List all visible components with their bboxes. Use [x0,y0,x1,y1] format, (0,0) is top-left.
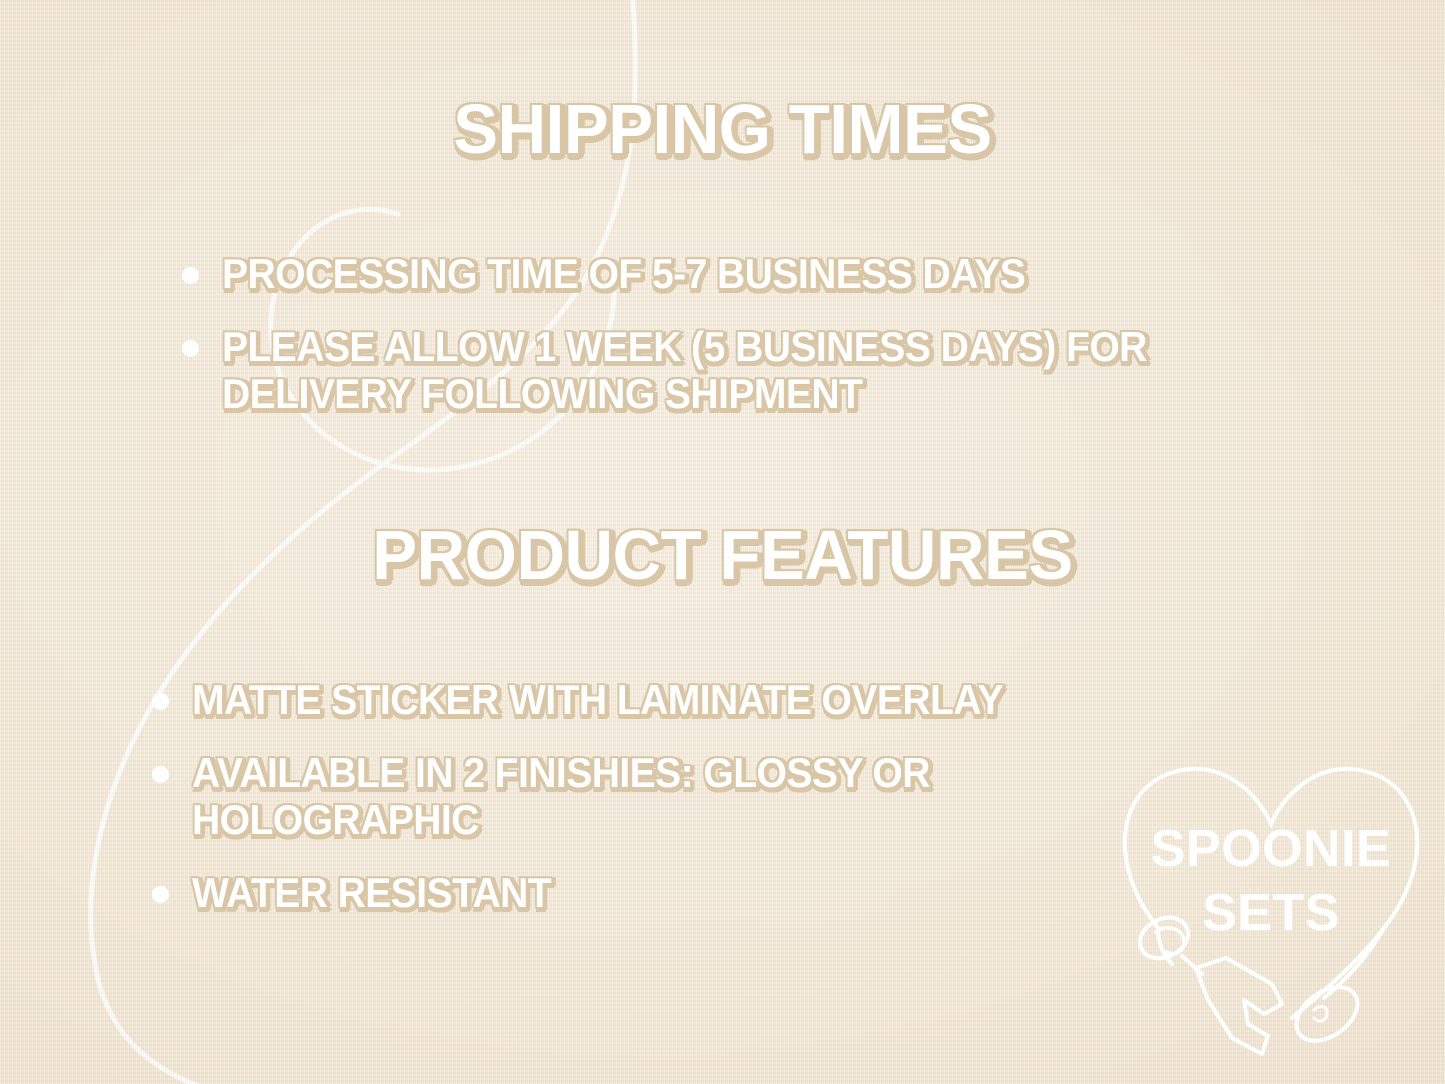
shipping-times-bullet-list: PROCESSING TIME OF 5-7 BUSINESS DAYS PLE… [178,250,1378,443]
list-item: MATTE STICKER WITH LAMINATE OVERLAY [148,676,1268,723]
list-item-label: MATTE STICKER WITH LAMINATE OVERLAY [192,676,1193,723]
list-item-label: WATER RESISTANT [192,869,1193,916]
list-item-label: PLEASE ALLOW 1 WEEK (5 BUSINESS DAYS) FO… [222,323,1297,417]
bullet-dot-icon [182,340,199,357]
list-item-label: AVAILABLE IN 2 FINISHIES: GLOSSY OR HOLO… [192,749,1193,843]
list-item: PROCESSING TIME OF 5-7 BUSINESS DAYS [178,250,1378,297]
logo-line-1: SPOONIE [1096,822,1445,876]
logo-line-2: SETS [1096,886,1445,940]
shipping-times-heading: SHIPPING TIMES [29,92,1416,166]
list-item-label: PROCESSING TIME OF 5-7 BUSINESS DAYS [222,250,1297,297]
bullet-dot-icon [152,886,169,903]
product-features-heading: PRODUCT FEATURES [29,518,1416,592]
shipping-info-poster: SHIPPING TIMES PROCESSING TIME OF 5-7 BU… [0,0,1445,1084]
bullet-dot-icon [152,766,169,783]
brand-logo: SPOONIE SETS [1096,742,1445,1084]
list-item: PLEASE ALLOW 1 WEEK (5 BUSINESS DAYS) FO… [178,323,1378,417]
bullet-dot-icon [152,693,169,710]
bullet-dot-icon [182,267,199,284]
